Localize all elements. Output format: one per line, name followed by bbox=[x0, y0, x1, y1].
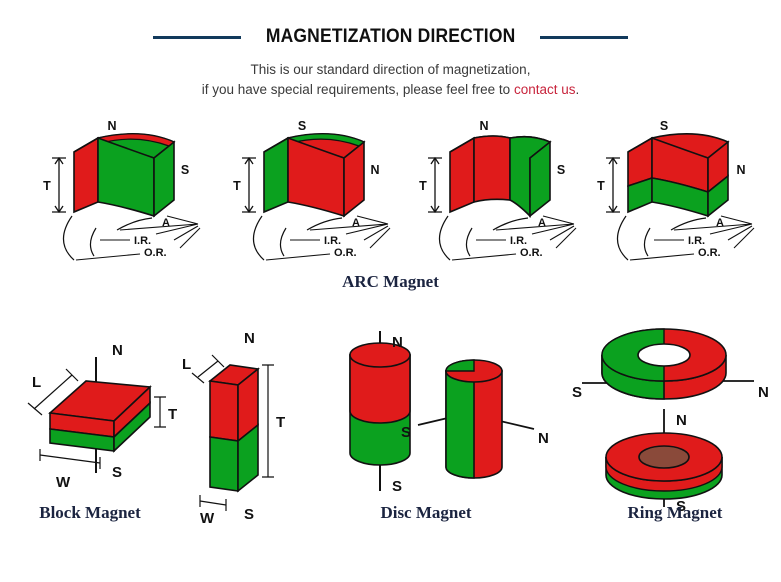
arc-2-top-pole: S bbox=[298, 119, 306, 133]
title-row: MAGNETIZATION DIRECTION bbox=[0, 26, 781, 48]
arc-magnet-2: T S N A I.R. O.R. bbox=[212, 112, 402, 262]
ring-axial: N S bbox=[606, 409, 722, 515]
arc-3-side-pole: S bbox=[557, 163, 565, 177]
arc-3-label-thickness: T bbox=[419, 179, 427, 193]
arc-2-label-outer-radius: O.R. bbox=[334, 247, 357, 259]
arc-2-label-thickness: T bbox=[233, 179, 241, 193]
magnetization-diagram: MAGNETIZATION DIRECTION This is our stan… bbox=[0, 0, 781, 582]
bottom-magnet-row: N S L T W bbox=[0, 325, 781, 540]
block-tall-pole-bottom: S bbox=[244, 506, 254, 523]
arc-label-inner-radius: I.R. bbox=[134, 235, 151, 247]
contact-us-link[interactable]: contact us bbox=[514, 82, 576, 97]
disc-diametric-pole-left: S bbox=[401, 424, 411, 441]
block-flat-pole-bottom: S bbox=[112, 464, 122, 481]
subtitle-line-2-post: . bbox=[575, 82, 579, 97]
arc-2-label-inner-radius: I.R. bbox=[324, 235, 341, 247]
arc-4-label-outer-radius: O.R. bbox=[698, 247, 721, 259]
arc-magnet-1: T N S A I.R. O.R. bbox=[22, 112, 212, 262]
rule-right bbox=[540, 36, 628, 39]
arc-magnet-3: T N S A I.R. O.R. bbox=[398, 112, 588, 262]
ring-diametric-pole-left: S bbox=[572, 384, 582, 401]
rule-left bbox=[153, 36, 241, 39]
subtitle-line-2: if you have special requirements, please… bbox=[0, 80, 781, 100]
arc-2-label-angle: A bbox=[352, 217, 360, 229]
block-magnet-flat: N S L T W bbox=[8, 325, 178, 505]
arc-4-top-pole: S bbox=[660, 119, 668, 133]
disc-axial-pole-bottom: S bbox=[392, 478, 402, 495]
disc-magnet-group: N S S N bbox=[336, 325, 546, 510]
arc-magnet-4: T S N A I.R. O.R. bbox=[576, 112, 771, 262]
subtitle: This is our standard direction of magnet… bbox=[0, 60, 781, 100]
arc-4-side-pole: N bbox=[736, 163, 745, 177]
disc-diametric: S N bbox=[401, 360, 549, 478]
arc-magnet-row: T N S A I.R. O.R. bbox=[0, 112, 781, 282]
arc-label-thickness: T bbox=[43, 179, 51, 193]
disc-axial: N S bbox=[350, 331, 410, 495]
subtitle-line-1: This is our standard direction of magnet… bbox=[0, 60, 781, 80]
arc-4-label-thickness: T bbox=[597, 179, 605, 193]
block-magnet-caption: Block Magnet bbox=[10, 503, 170, 523]
page-title: MAGNETIZATION DIRECTION bbox=[266, 26, 516, 48]
ring-magnet-caption: Ring Magnet bbox=[580, 503, 770, 523]
arc-magnet-caption: ARC Magnet bbox=[0, 272, 781, 292]
block-magnet-tall: N S L T W bbox=[172, 325, 327, 525]
arc-label-angle: A bbox=[162, 217, 170, 229]
ring-magnet-group: S N N S bbox=[572, 325, 777, 515]
ring-axial-pole-top: N bbox=[676, 412, 687, 429]
arc-3-top-pole: N bbox=[479, 119, 488, 133]
ring-diametric: S N bbox=[572, 329, 769, 401]
arc-4-label-inner-radius: I.R. bbox=[688, 235, 705, 247]
block-tall-label-thickness: T bbox=[276, 414, 285, 431]
block-tall-label-length: L bbox=[182, 356, 191, 373]
disc-axial-pole-top: N bbox=[392, 334, 403, 351]
header: MAGNETIZATION DIRECTION This is our stan… bbox=[0, 0, 781, 100]
arc-3-label-outer-radius: O.R. bbox=[520, 247, 543, 259]
disc-magnet-caption: Disc Magnet bbox=[336, 503, 516, 523]
subtitle-line-2-pre: if you have special requirements, please… bbox=[202, 82, 514, 97]
arc-3-label-inner-radius: I.R. bbox=[510, 235, 527, 247]
disc-diametric-pole-right: N bbox=[538, 430, 549, 447]
arc-label-outer-radius: O.R. bbox=[144, 247, 167, 259]
block-flat-label-width: W bbox=[56, 474, 71, 491]
block-flat-label-length: L bbox=[32, 374, 41, 391]
arc-4-label-angle: A bbox=[716, 217, 724, 229]
arc-1-top-pole: N bbox=[107, 119, 116, 133]
arc-3-label-angle: A bbox=[538, 217, 546, 229]
block-flat-pole-top: N bbox=[112, 342, 123, 359]
block-tall-pole-top: N bbox=[244, 330, 255, 347]
arc-2-side-pole: N bbox=[370, 163, 379, 177]
arc-1-side-pole: S bbox=[181, 163, 189, 177]
block-tall-label-width: W bbox=[200, 510, 215, 527]
ring-diametric-pole-right: N bbox=[758, 384, 769, 401]
